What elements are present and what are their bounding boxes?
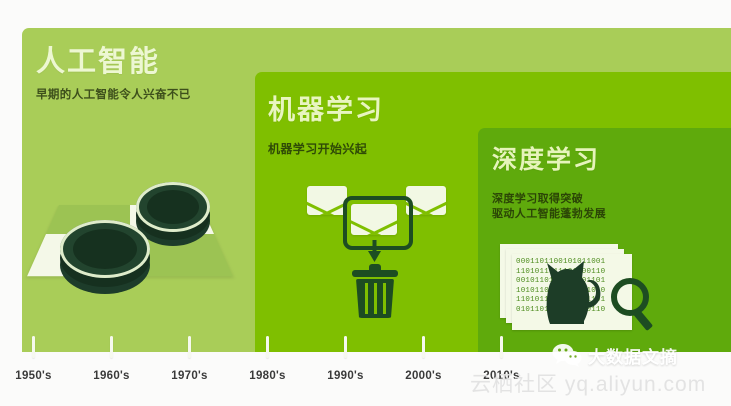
panel-title-ai: 人工智能 — [36, 38, 160, 80]
panel-subtitle-dl-line2: 驱动人工智能蓬勃发展 — [492, 208, 606, 220]
wechat-watermark-label: 大数据文摘 — [588, 343, 678, 368]
timeline-label: 2000's — [405, 370, 442, 382]
timeline-label: 1990's — [327, 370, 364, 382]
wechat-icon — [552, 343, 582, 367]
timeline-label: 1970's — [171, 370, 208, 382]
panel-subtitle-dl-line1: 深度学习取得突破 — [492, 193, 583, 205]
wechat-watermark: 大数据文摘 — [552, 342, 678, 368]
timeline-tick — [32, 336, 35, 358]
deep-learning-illustration: 0001101100101011001 1101011011101100110 … — [494, 244, 674, 344]
envelope-icon-center — [351, 204, 397, 235]
checkers-board-illustration — [28, 168, 233, 308]
timeline-label: 1960's — [93, 370, 130, 382]
timeline-label: 1980's — [249, 370, 286, 382]
panel-subtitle-ml: 机器学习开始兴起 — [268, 142, 367, 157]
timeline-tick — [266, 336, 269, 358]
timeline-tick — [344, 336, 347, 358]
timeline-tick — [110, 336, 113, 358]
envelope-icon-left — [307, 186, 347, 215]
checker-stack-front — [60, 220, 150, 278]
panel-title-dl: 深度学习 — [492, 140, 600, 176]
panel-subtitle-dl: 深度学习取得突破 驱动人工智能蓬勃发展 — [492, 192, 606, 222]
timeline-label: 1950's — [15, 370, 52, 382]
timeline-tick — [422, 336, 425, 358]
magnifier-icon — [606, 274, 664, 332]
arrow-down-icon — [368, 240, 381, 262]
infographic-canvas: 人工智能 早期的人工智能令人兴奋不已 机器学习 机器学习开始兴起 0001101… — [0, 0, 731, 406]
timeline-tick — [188, 336, 191, 358]
panel-subtitle-ai: 早期的人工智能令人兴奋不已 — [36, 88, 191, 103]
trash-can-icon — [352, 262, 398, 318]
timeline-tick — [500, 336, 503, 358]
aliyun-watermark: 云栖社区 yq.aliyun.com — [470, 368, 706, 398]
panel-title-ml: 机器学习 — [268, 88, 384, 127]
